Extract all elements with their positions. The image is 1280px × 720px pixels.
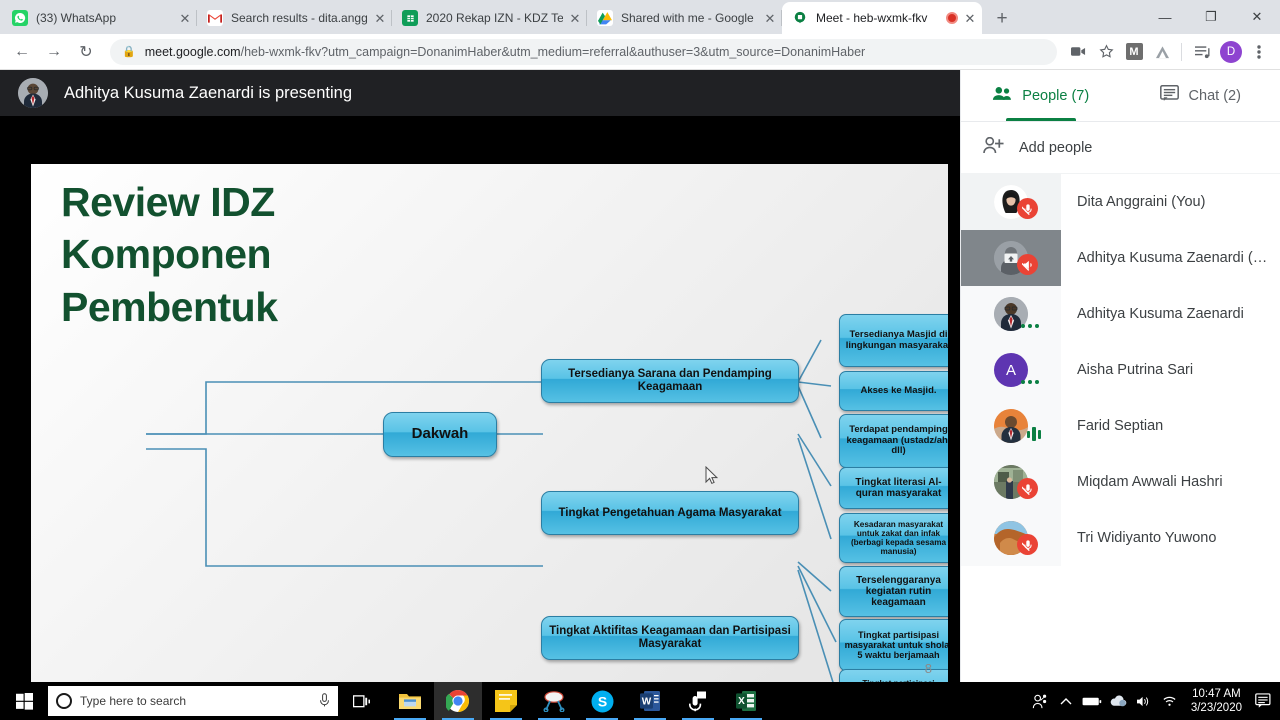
search-placeholder: Type here to search <box>80 694 311 708</box>
mindmap-leaf-node-1-2: Akses ke Masjid. <box>839 371 948 411</box>
clock-time: 10:47 AM <box>1192 687 1241 701</box>
browser-tab-gmail[interactable]: Search results - dita.anggra ✕ <box>197 2 392 34</box>
page-viewport: Adhitya Kusuma Zaenardi is presenting Re… <box>0 70 1280 682</box>
meet-side-panel: People (7) Chat (2) <box>960 70 1280 682</box>
system-tray: 10:47 AM 3/23/2020 <box>1027 682 1280 720</box>
reading-list-icon[interactable] <box>1190 39 1216 65</box>
participant-name: Aisha Putrina Sari <box>1061 362 1280 378</box>
mindmap-branch-label-2: Tingkat Pengetahuan Agama Masyarakat <box>558 507 781 520</box>
mindmap-leaf-label-2-1: Tingkat literasi Al-quran masyarakat <box>844 477 948 499</box>
snipping-tool-icon[interactable] <box>530 682 578 720</box>
three-dots-icon <box>1021 324 1040 329</box>
mindmap-leaf-label-1-1: Tersedianya Masjid di lingkungan masyara… <box>844 330 948 351</box>
video-camera-icon[interactable] <box>1065 39 1091 65</box>
participant-avatar-cell: A <box>961 342 1061 398</box>
address-bar[interactable]: 🔒 meet.google.com/heb-wxmk-fkv?utm_campa… <box>110 39 1057 65</box>
volume-icon[interactable] <box>1131 682 1157 720</box>
file-explorer-icon[interactable] <box>386 682 434 720</box>
participant-row-aisha[interactable]: A Aisha Putrina Sari <box>961 342 1280 398</box>
add-people-label: Add people <box>1019 140 1092 156</box>
tab-title: Meet - heb-wxmk-fkv <box>816 10 942 26</box>
profile-initial: D <box>1220 41 1242 63</box>
participant-avatar-cell <box>961 286 1061 342</box>
tab-title: 2020 Rekap IZN - KDZ Terk <box>426 10 563 26</box>
battery-icon[interactable] <box>1079 682 1105 720</box>
drive-icon <box>597 10 613 26</box>
tab-close-icon[interactable]: ✕ <box>372 10 388 26</box>
url-text: meet.google.com/heb-wxmk-fkv?utm_campaig… <box>145 45 866 59</box>
speaker-muted-icon <box>1017 254 1038 275</box>
participant-avatar-cell <box>961 510 1061 566</box>
add-person-icon <box>983 137 1005 158</box>
search-input[interactable]: Type here to search <box>48 686 338 716</box>
excel-icon[interactable]: X <box>722 682 770 720</box>
svg-text:X: X <box>738 696 745 707</box>
task-view-icon[interactable] <box>338 682 386 720</box>
close-window-button[interactable]: ✕ <box>1234 0 1280 34</box>
browser-tab-whatsapp[interactable]: (33) WhatsApp ✕ <box>2 2 197 34</box>
meet-icon <box>792 10 808 26</box>
slide-page-number: 8 <box>925 661 932 676</box>
back-button[interactable]: ← <box>8 38 36 66</box>
tab-close-icon[interactable]: ✕ <box>567 10 583 26</box>
tab-close-icon[interactable]: ✕ <box>962 10 978 26</box>
mindmap-leaf-label-1-2: Akses ke Masjid. <box>860 386 936 397</box>
url-host: meet.google.com <box>145 45 241 59</box>
mindmap-leaf-node-2-2: Kesadaran masyarakat untuk zakat dan inf… <box>839 513 948 563</box>
profile-avatar-icon[interactable]: D <box>1218 39 1244 65</box>
participant-row-adhitya[interactable]: Adhitya Kusuma Zaenardi <box>961 286 1280 342</box>
mindmap-leaf-node-1-1: Tersedianya Masjid di lingkungan masyara… <box>839 314 948 367</box>
people-share-icon[interactable] <box>1027 682 1053 720</box>
mindmap-branch-node-2: Tingkat Pengetahuan Agama Masyarakat <box>541 491 799 535</box>
participant-list[interactable]: Dita Anggraini (You) <box>961 174 1280 682</box>
people-icon <box>992 86 1012 105</box>
mindmap-root-node: Dakwah <box>383 412 497 457</box>
mindmap-branch-node-3: Tingkat Aktifitas Keagamaan dan Partisip… <box>541 616 799 660</box>
wifi-icon[interactable] <box>1157 682 1183 720</box>
mic-muted-icon <box>1017 198 1038 219</box>
mindmap-branch-label-1: Tersedianya Sarana dan Pendamping Keagam… <box>546 368 794 394</box>
avatar-initial: A <box>1006 362 1016 379</box>
browser-tab-drive[interactable]: Shared with me - Google D ✕ <box>587 2 782 34</box>
svg-text:W: W <box>642 696 652 707</box>
tab-close-icon[interactable]: ✕ <box>177 10 193 26</box>
mindmap-leaf-label-3-1: Terselenggaranya kegiatan rutin keagamaa… <box>844 575 948 609</box>
tab-chat-label: Chat (2) <box>1189 88 1241 104</box>
chrome-menu-icon[interactable] <box>1246 39 1272 65</box>
bookmark-star-icon[interactable] <box>1093 39 1119 65</box>
participant-row-miqdam[interactable]: Miqdam Awwali Hashri <box>961 454 1280 510</box>
word-icon[interactable]: W <box>626 682 674 720</box>
tab-close-icon[interactable]: ✕ <box>762 10 778 26</box>
mindmap-leaf-label-1-3: Terdapat pendamping keagamaan (ustadz/ah… <box>844 425 948 457</box>
windows-taskbar: Type here to search <box>0 682 1280 720</box>
search-circle-icon <box>56 693 72 709</box>
reload-button[interactable]: ↻ <box>72 38 100 66</box>
presenter-name: Adhitya Kusuma Zaenardi is presenting <box>64 84 352 103</box>
participant-avatar-cell <box>961 174 1061 230</box>
mindmap-leaf-node-2-1: Tingkat literasi Al-quran masyarakat <box>839 467 948 509</box>
participant-name: Tri Widiyanto Yuwono <box>1061 530 1280 546</box>
tab-title: (33) WhatsApp <box>36 10 173 26</box>
tab-people[interactable]: People (7) <box>961 70 1121 121</box>
chat-icon <box>1160 85 1179 106</box>
mind-map-diagram: Dakwah Tersedianya Sarana dan Pendamping… <box>31 164 948 682</box>
participant-row-tri[interactable]: Tri Widiyanto Yuwono <box>961 510 1280 566</box>
participant-row-adhitya-presenting[interactable]: Adhitya Kusuma Zaenardi (Pre… <box>961 230 1280 286</box>
drive-extension-icon[interactable] <box>1149 39 1175 65</box>
audio-level-icon <box>1027 426 1042 442</box>
participant-name: Adhitya Kusuma Zaenardi (Pre… <box>1061 250 1280 266</box>
onedrive-icon[interactable] <box>1105 682 1131 720</box>
participant-name: Miqdam Awwali Hashri <box>1061 474 1280 490</box>
mindmap-leaf-node-3-1: Terselenggaranya kegiatan rutin keagamaa… <box>839 566 948 617</box>
toolbar-separator <box>1181 43 1182 61</box>
mindmap-branch-label-3: Tingkat Aktifitas Keagamaan dan Partisip… <box>546 625 794 651</box>
skype-icon[interactable]: S <box>578 682 626 720</box>
svg-text:S: S <box>597 693 606 709</box>
three-dots-icon <box>1021 380 1040 385</box>
participant-row-dita[interactable]: Dita Anggraini (You) <box>961 174 1280 230</box>
tab-chat[interactable]: Chat (2) <box>1121 70 1280 121</box>
panel-tabs: People (7) Chat (2) <box>961 70 1280 122</box>
voice-recorder-icon[interactable] <box>674 682 722 720</box>
participant-name: Dita Anggraini (You) <box>1061 194 1280 210</box>
tab-title: Search results - dita.anggra <box>231 10 368 26</box>
mic-muted-icon <box>1017 534 1038 555</box>
presenting-banner: Adhitya Kusuma Zaenardi is presenting <box>0 70 960 116</box>
browser-tab-sheets[interactable]: 2020 Rekap IZN - KDZ Terk ✕ <box>392 2 587 34</box>
browser-window: (33) WhatsApp ✕ Search results - dita.an… <box>0 0 1280 720</box>
notifications-icon[interactable] <box>1250 682 1276 720</box>
avatar <box>994 409 1028 443</box>
gmail-icon <box>207 10 223 26</box>
presentation-slide: Review IDZ Komponen Pembentuk <box>31 164 948 682</box>
participant-avatar-cell <box>961 398 1061 454</box>
presenter-avatar <box>18 78 48 108</box>
participant-avatar-cell <box>961 230 1061 286</box>
participant-name: Adhitya Kusuma Zaenardi <box>1061 306 1280 322</box>
tab-people-label: People (7) <box>1022 88 1089 104</box>
mindmap-leaf-label-3-2: Tingkat partisipasi masyarakat untuk sho… <box>844 630 948 661</box>
windows-start-icon[interactable] <box>0 682 48 720</box>
meet-stage: Adhitya Kusuma Zaenardi is presenting Re… <box>0 70 960 682</box>
tab-strip: (33) WhatsApp ✕ Search results - dita.an… <box>0 0 1280 34</box>
participant-name: Farid Septian <box>1061 418 1280 434</box>
mindmap-root-label: Dakwah <box>412 426 469 443</box>
clock-date: 3/23/2020 <box>1191 701 1242 715</box>
mindmap-leaf-node-1-3: Terdapat pendamping keagamaan (ustadz/ah… <box>839 414 948 468</box>
padlock-icon: 🔒 <box>122 45 136 58</box>
chrome-icon[interactable] <box>434 682 482 720</box>
shared-screen-area: Review IDZ Komponen Pembentuk <box>0 116 960 682</box>
add-people-button[interactable]: Add people <box>961 122 1280 174</box>
mindmap-branch-node-1: Tersedianya Sarana dan Pendamping Keagam… <box>541 359 799 403</box>
participant-avatar-cell <box>961 454 1061 510</box>
tab-recording-indicator-icon <box>946 12 958 24</box>
extension-m-icon[interactable]: M <box>1121 39 1147 65</box>
url-path: /heb-wxmk-fkv?utm_campaign=DonanimHaber&… <box>241 45 866 59</box>
taskbar-clock[interactable]: 10:47 AM 3/23/2020 <box>1183 687 1250 716</box>
tab-title: Shared with me - Google D <box>621 10 758 26</box>
mindmap-leaf-label-2-2: Kesadaran masyarakat untuk zakat dan inf… <box>844 520 948 557</box>
browser-tab-meet[interactable]: Meet - heb-wxmk-fkv ✕ <box>782 2 982 34</box>
sticky-notes-icon[interactable] <box>482 682 530 720</box>
whatsapp-icon <box>12 10 28 26</box>
maximize-button[interactable]: ❐ <box>1188 0 1234 34</box>
microphone-icon[interactable] <box>319 693 330 710</box>
browser-toolbar: ← → ↻ 🔒 meet.google.com/heb-wxmk-fkv?utm… <box>0 34 1280 70</box>
minimize-button[interactable]: — <box>1142 0 1188 34</box>
participant-row-farid[interactable]: Farid Septian <box>961 398 1280 454</box>
mic-muted-icon <box>1017 478 1038 499</box>
show-hidden-icons-icon[interactable] <box>1053 682 1079 720</box>
forward-button[interactable]: → <box>40 38 68 66</box>
window-controls: — ❐ ✕ <box>1142 0 1280 34</box>
extension-m-label: M <box>1126 43 1143 60</box>
sheets-icon <box>402 10 418 26</box>
new-tab-button[interactable]: + <box>988 4 1016 32</box>
